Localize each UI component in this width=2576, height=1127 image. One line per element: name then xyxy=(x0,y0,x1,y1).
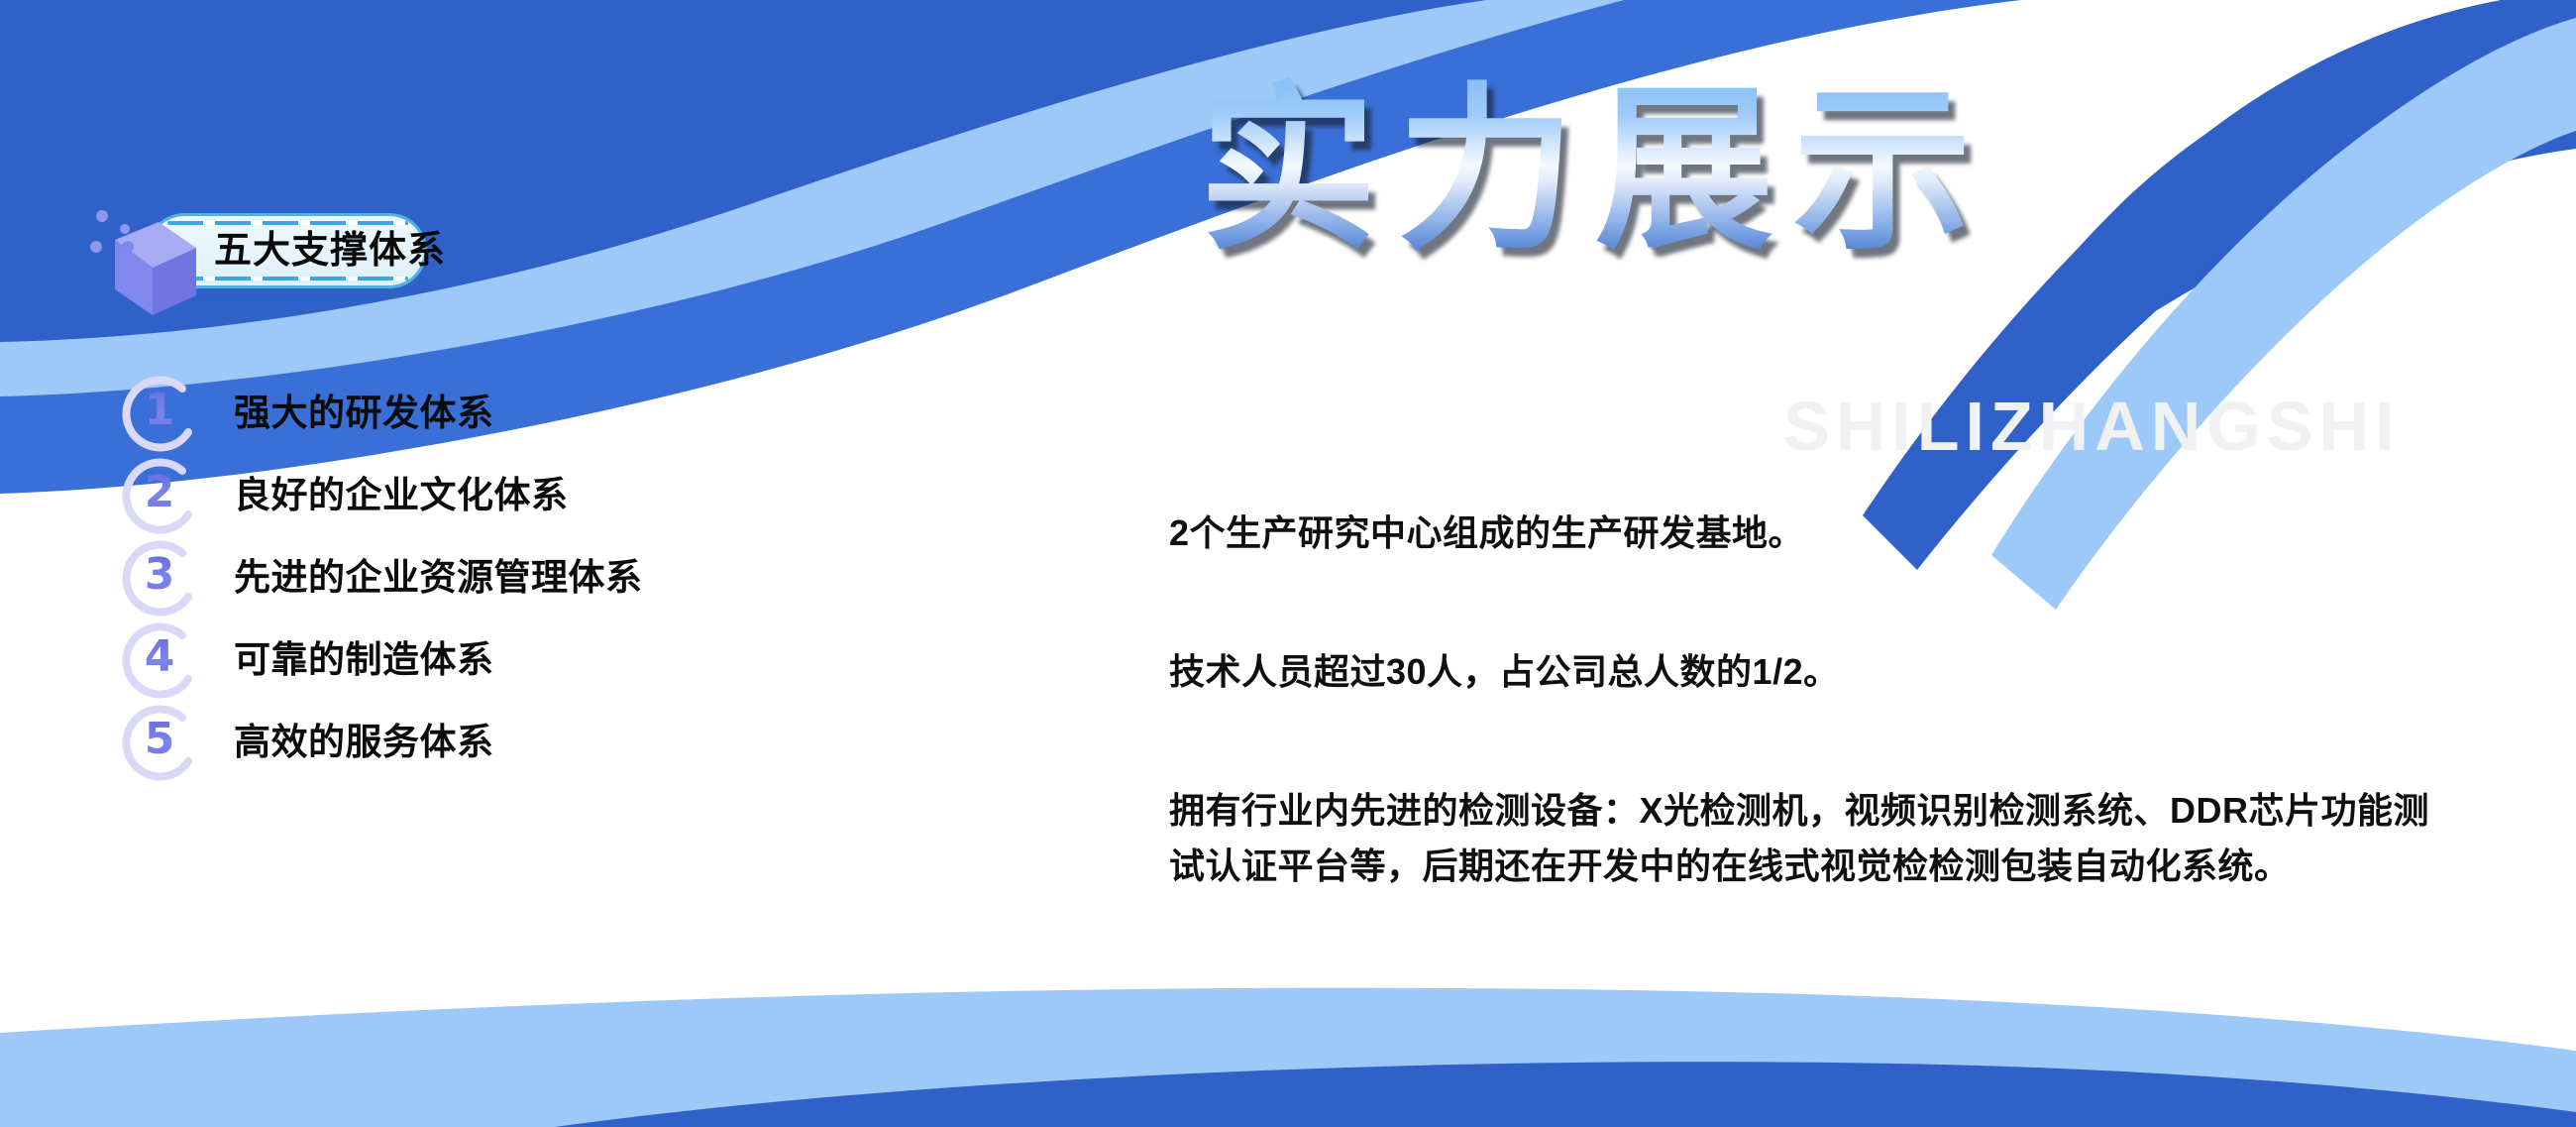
number-label: 2 xyxy=(117,457,202,542)
body-paragraph: 拥有行业内先进的检测设备：X光检测机，视频识别检测系统、DDR芯片功能测试认证平… xyxy=(1169,783,2447,894)
slide-canvas: 五大支撑体系 1 强大的研发体系 2 xyxy=(0,0,2576,1127)
number-badge-4: 4 xyxy=(117,621,202,707)
number-badge-2: 2 xyxy=(117,457,202,542)
number-badge-3: 3 xyxy=(117,539,202,624)
page-subtitle-pinyin: SHILIZHANGSHI xyxy=(1783,387,2400,466)
list-item-label: 可靠的制造体系 xyxy=(234,629,494,683)
page-title: 实力展示 xyxy=(1199,77,1991,265)
left-column: 五大支撑体系 1 强大的研发体系 2 xyxy=(0,0,1169,1127)
list-item-label: 先进的企业资源管理体系 xyxy=(234,547,643,601)
list-item-label: 强大的研发体系 xyxy=(234,383,494,436)
number-label: 1 xyxy=(117,375,202,460)
number-label: 4 xyxy=(117,621,202,707)
list-item-label: 高效的服务体系 xyxy=(234,712,494,765)
right-column: 实力展示 SHILIZHANGSHI 2个生产研究中心组成的生产研发基地。 技术… xyxy=(1169,0,2576,1127)
number-label: 3 xyxy=(117,539,202,624)
number-label: 5 xyxy=(117,704,202,789)
number-badge-1: 1 xyxy=(117,375,202,460)
section-badge-label: 五大支撑体系 xyxy=(214,218,422,283)
number-badge-5: 5 xyxy=(117,704,202,789)
body-paragraph: 2个生产研究中心组成的生产研发基地。 xyxy=(1169,506,2457,561)
list-item-label: 良好的企业文化体系 xyxy=(234,465,569,518)
cube-icon xyxy=(87,204,206,325)
body-paragraph: 技术人员超过30人，占公司总人数的1/2。 xyxy=(1169,644,2457,700)
